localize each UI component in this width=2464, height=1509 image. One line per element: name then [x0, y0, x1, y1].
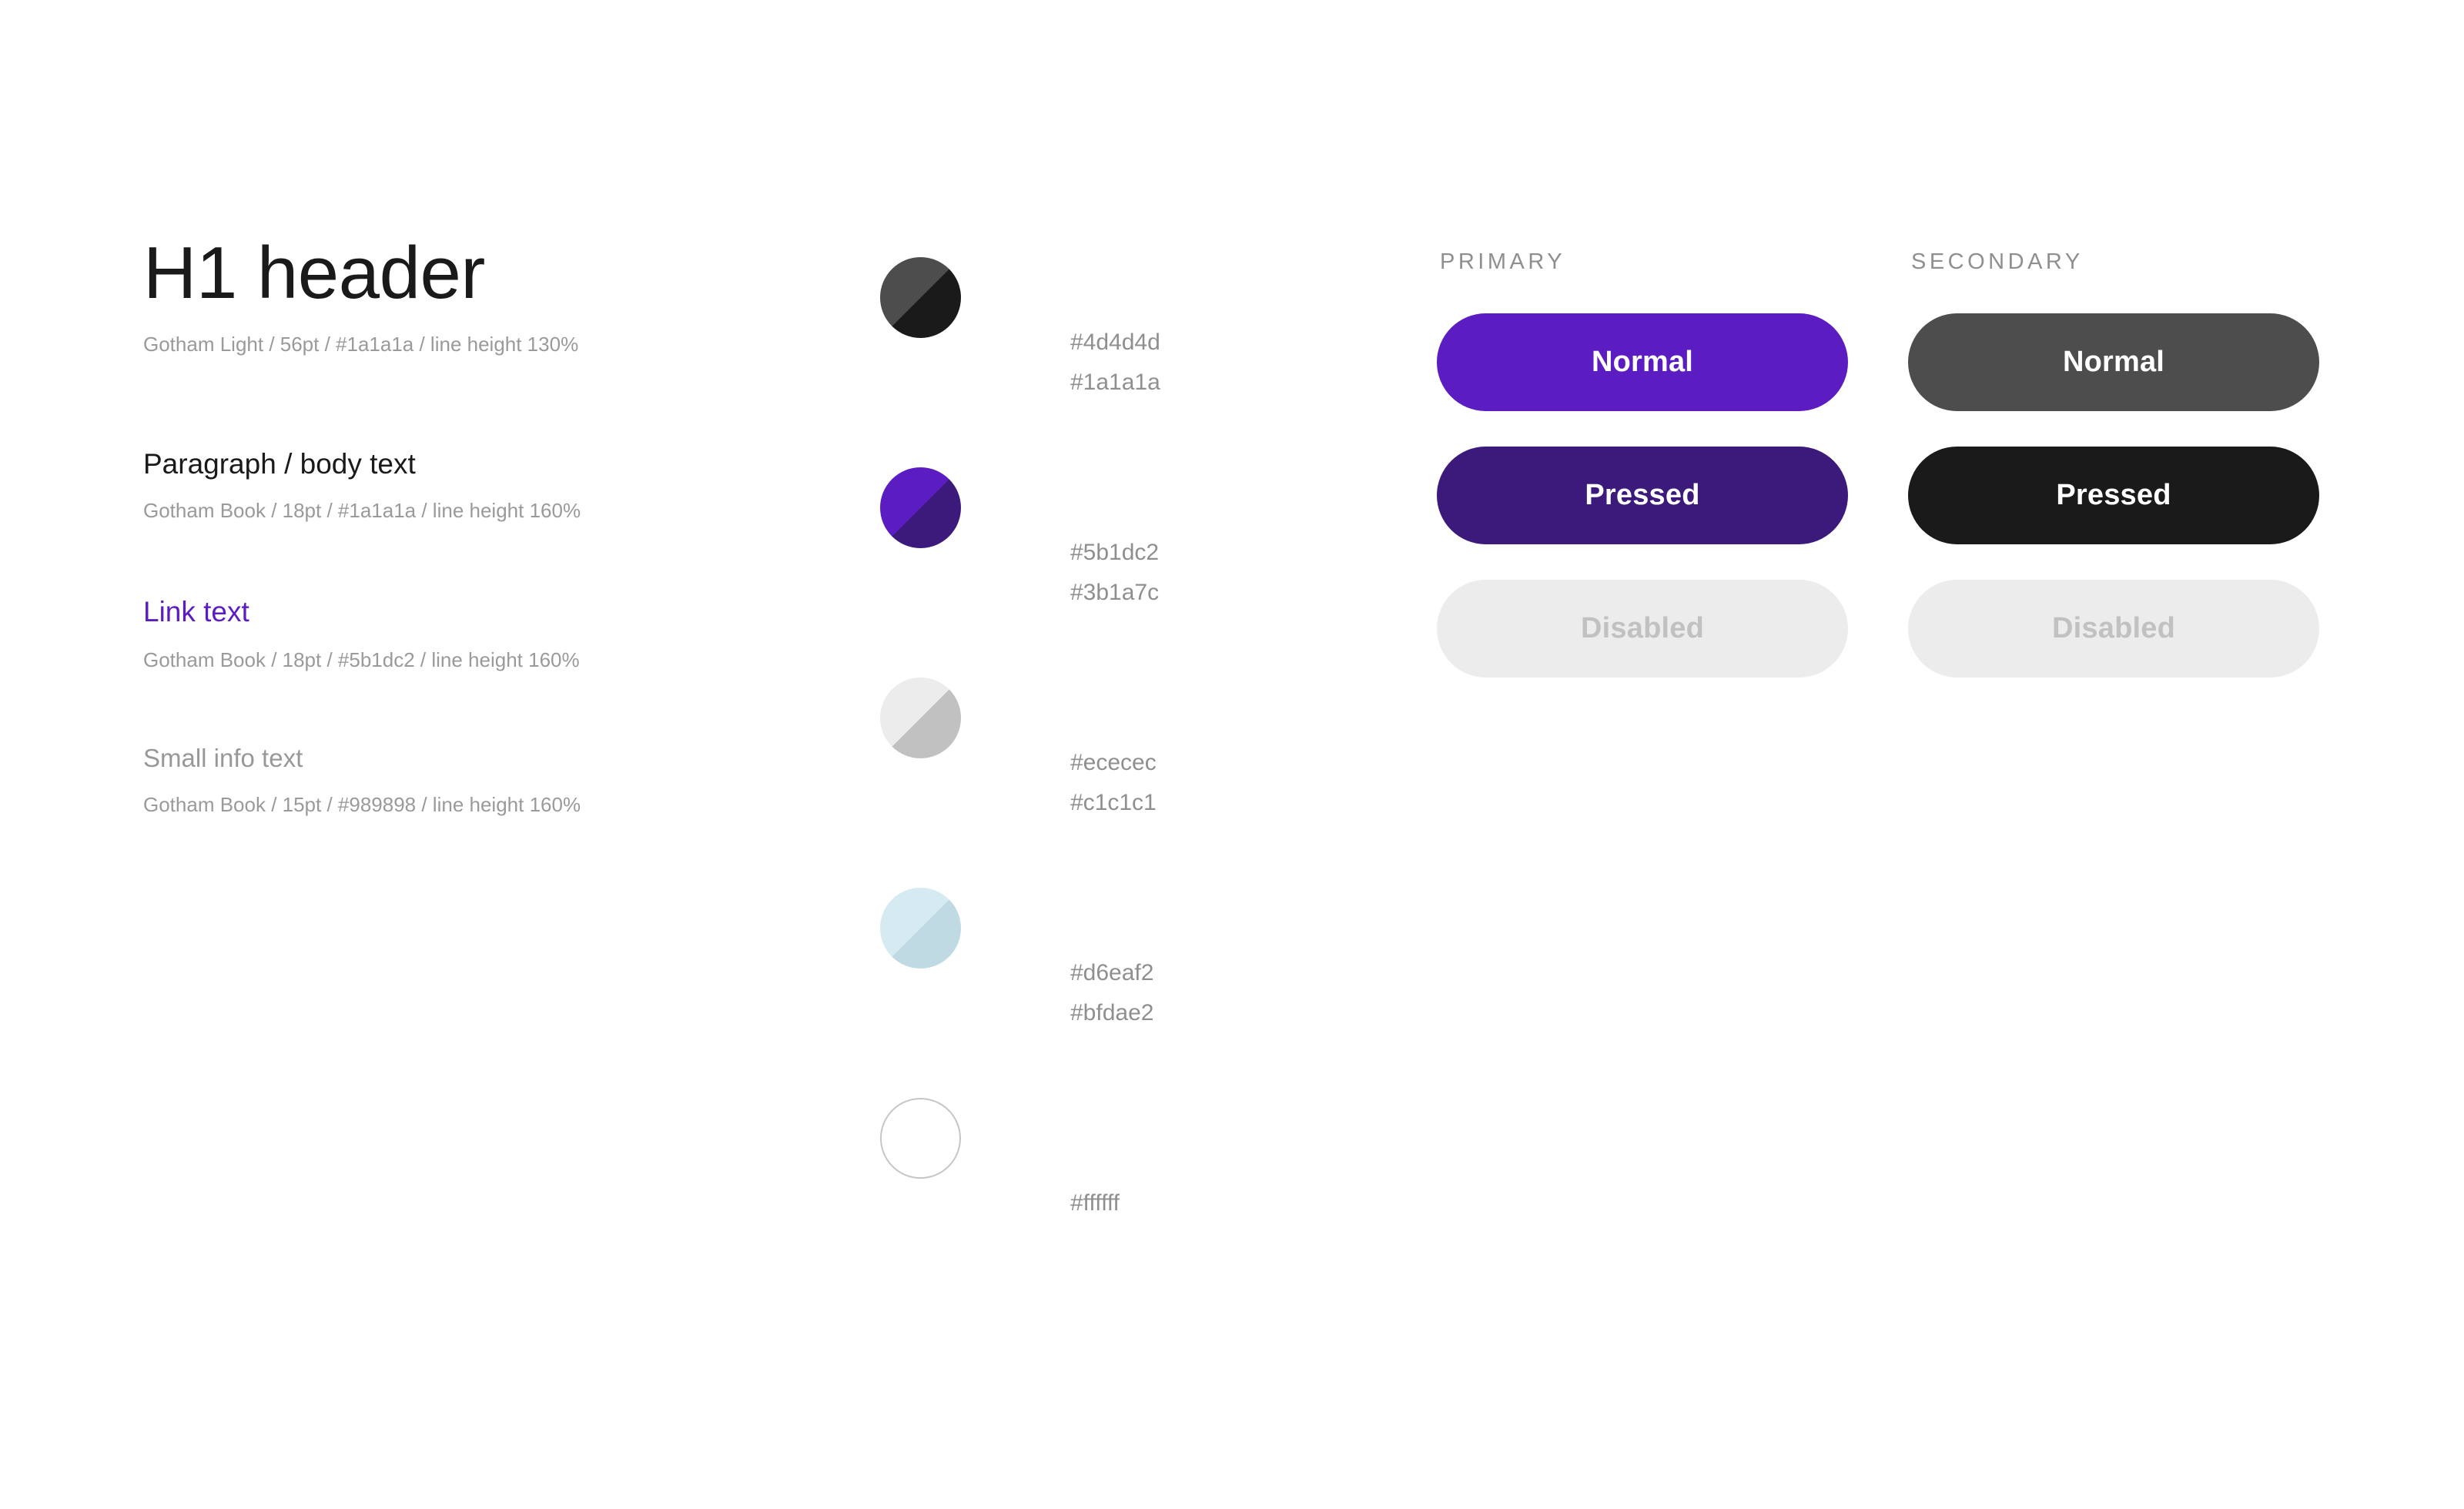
- h1-spec-text: Gotham Light / 56pt / #1a1a1a / line hei…: [143, 329, 775, 361]
- color-hex-dark: #3b1a7c: [1070, 573, 1159, 613]
- primary-normal-button[interactable]: Normal: [1437, 313, 1848, 411]
- typography-item-small-info: Small info text Gotham Book / 15pt / #98…: [143, 742, 775, 821]
- color-hex-light: #5b1dc2: [1070, 532, 1159, 572]
- link-spec-text: Gotham Book / 18pt / #5b1dc2 / line heig…: [143, 644, 775, 677]
- secondary-button-group: SECONDARY Normal Pressed Disabled: [1908, 251, 2319, 678]
- color-hex-dark: #c1c1c1: [1070, 783, 1157, 823]
- color-hex-light: #ffffff: [1070, 1183, 1120, 1223]
- paragraph-spec-text: Gotham Book / 18pt / #1a1a1a / line heig…: [143, 495, 775, 527]
- paragraph-sample-text: Paragraph / body text: [143, 446, 775, 483]
- color-hex-dark: #bfdae2: [1070, 993, 1153, 1033]
- small-info-spec-text: Gotham Book / 15pt / #989898 / line heig…: [143, 789, 775, 821]
- color-swatch-labels: #ffffff: [1070, 1183, 1120, 1223]
- color-hex-dark: #1a1a1a: [1070, 363, 1160, 403]
- small-info-sample-text: Small info text: [143, 742, 775, 775]
- color-swatch-labels: #5b1dc2 #3b1a7c: [1070, 532, 1159, 612]
- typography-item-link: Link text Gotham Book / 18pt / #5b1dc2 /…: [143, 594, 775, 677]
- color-swatch-circle: [880, 257, 961, 338]
- color-hex-light: #4d4d4d: [1070, 322, 1160, 362]
- primary-disabled-button: Disabled: [1437, 580, 1848, 678]
- h1-sample-text: H1 header: [143, 229, 775, 316]
- typography-section: H1 header Gotham Light / 56pt / #1a1a1a …: [143, 229, 775, 821]
- color-hex-light: #ececec: [1070, 742, 1157, 782]
- color-swatch-circle: [880, 467, 961, 548]
- primary-button-group: PRIMARY Normal Pressed Disabled: [1437, 251, 1848, 678]
- color-swatch-labels: #d6eaf2 #bfdae2: [1070, 952, 1153, 1032]
- secondary-group-title: SECONDARY: [1911, 251, 2319, 273]
- style-guide-canvas: H1 header Gotham Light / 56pt / #1a1a1a …: [0, 0, 2464, 1509]
- color-swatch-circle: [880, 1098, 961, 1179]
- color-hex-light: #d6eaf2: [1070, 952, 1153, 992]
- primary-group-title: PRIMARY: [1440, 251, 1848, 273]
- color-swatch-labels: #ececec #c1c1c1: [1070, 742, 1157, 822]
- typography-item-h1: H1 header Gotham Light / 56pt / #1a1a1a …: [143, 229, 775, 361]
- color-swatch-labels: #4d4d4d #1a1a1a: [1070, 322, 1160, 402]
- link-sample-text[interactable]: Link text: [143, 594, 249, 631]
- primary-pressed-button[interactable]: Pressed: [1437, 447, 1848, 544]
- color-swatch-circle: [880, 888, 961, 969]
- color-swatch-circle: [880, 678, 961, 758]
- secondary-disabled-button: Disabled: [1908, 580, 2319, 678]
- typography-item-paragraph: Paragraph / body text Gotham Book / 18pt…: [143, 446, 775, 527]
- secondary-normal-button[interactable]: Normal: [1908, 313, 2319, 411]
- secondary-pressed-button[interactable]: Pressed: [1908, 447, 2319, 544]
